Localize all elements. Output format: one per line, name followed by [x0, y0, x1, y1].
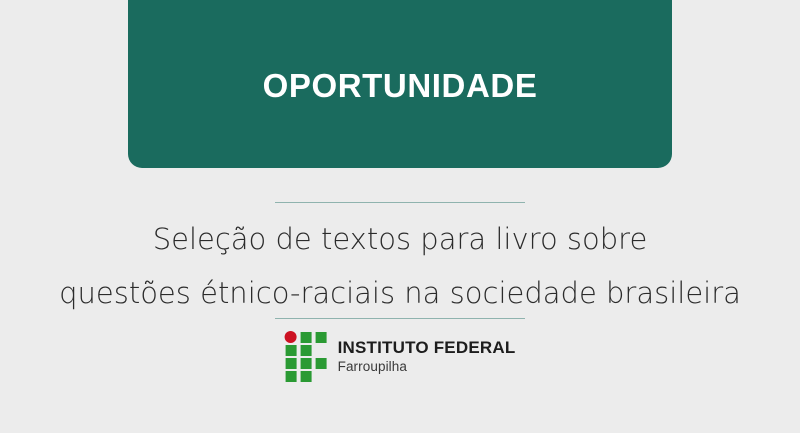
- banner-title: OPORTUNIDADE: [263, 69, 538, 102]
- logo-square: [301, 345, 312, 356]
- divider-bottom: [275, 318, 525, 319]
- logo-secondary-text: Farroupilha: [338, 360, 516, 374]
- logo-square: [301, 371, 312, 382]
- logo-square: [316, 358, 327, 369]
- headline-line-2: questões étnico-raciais na sociedade bra…: [0, 266, 800, 320]
- instituto-federal-farroupilha-logo: INSTITUTO FEDERAL Farroupilha: [285, 330, 516, 382]
- logo-primary-text: INSTITUTO FEDERAL: [338, 339, 516, 356]
- logo-wordmark: INSTITUTO FEDERAL Farroupilha: [338, 339, 516, 374]
- divider-top: [275, 202, 525, 203]
- headline-line-1: Seleção de textos para livro sobre: [0, 212, 800, 266]
- headline-block: Seleção de textos para livro sobre quest…: [0, 212, 800, 320]
- logo-square: [316, 332, 327, 343]
- logo-square: [301, 332, 312, 343]
- logo-red-dot: [285, 331, 297, 343]
- oportunidade-banner: OPORTUNIDADE: [128, 0, 672, 168]
- logo-square: [286, 358, 297, 369]
- logo-square: [286, 371, 297, 382]
- instituto-federal-logo-mark-icon: [285, 330, 329, 382]
- logo-square: [286, 345, 297, 356]
- poster-canvas: OPORTUNIDADE Seleção de textos para livr…: [0, 0, 800, 433]
- logo-square: [301, 358, 312, 369]
